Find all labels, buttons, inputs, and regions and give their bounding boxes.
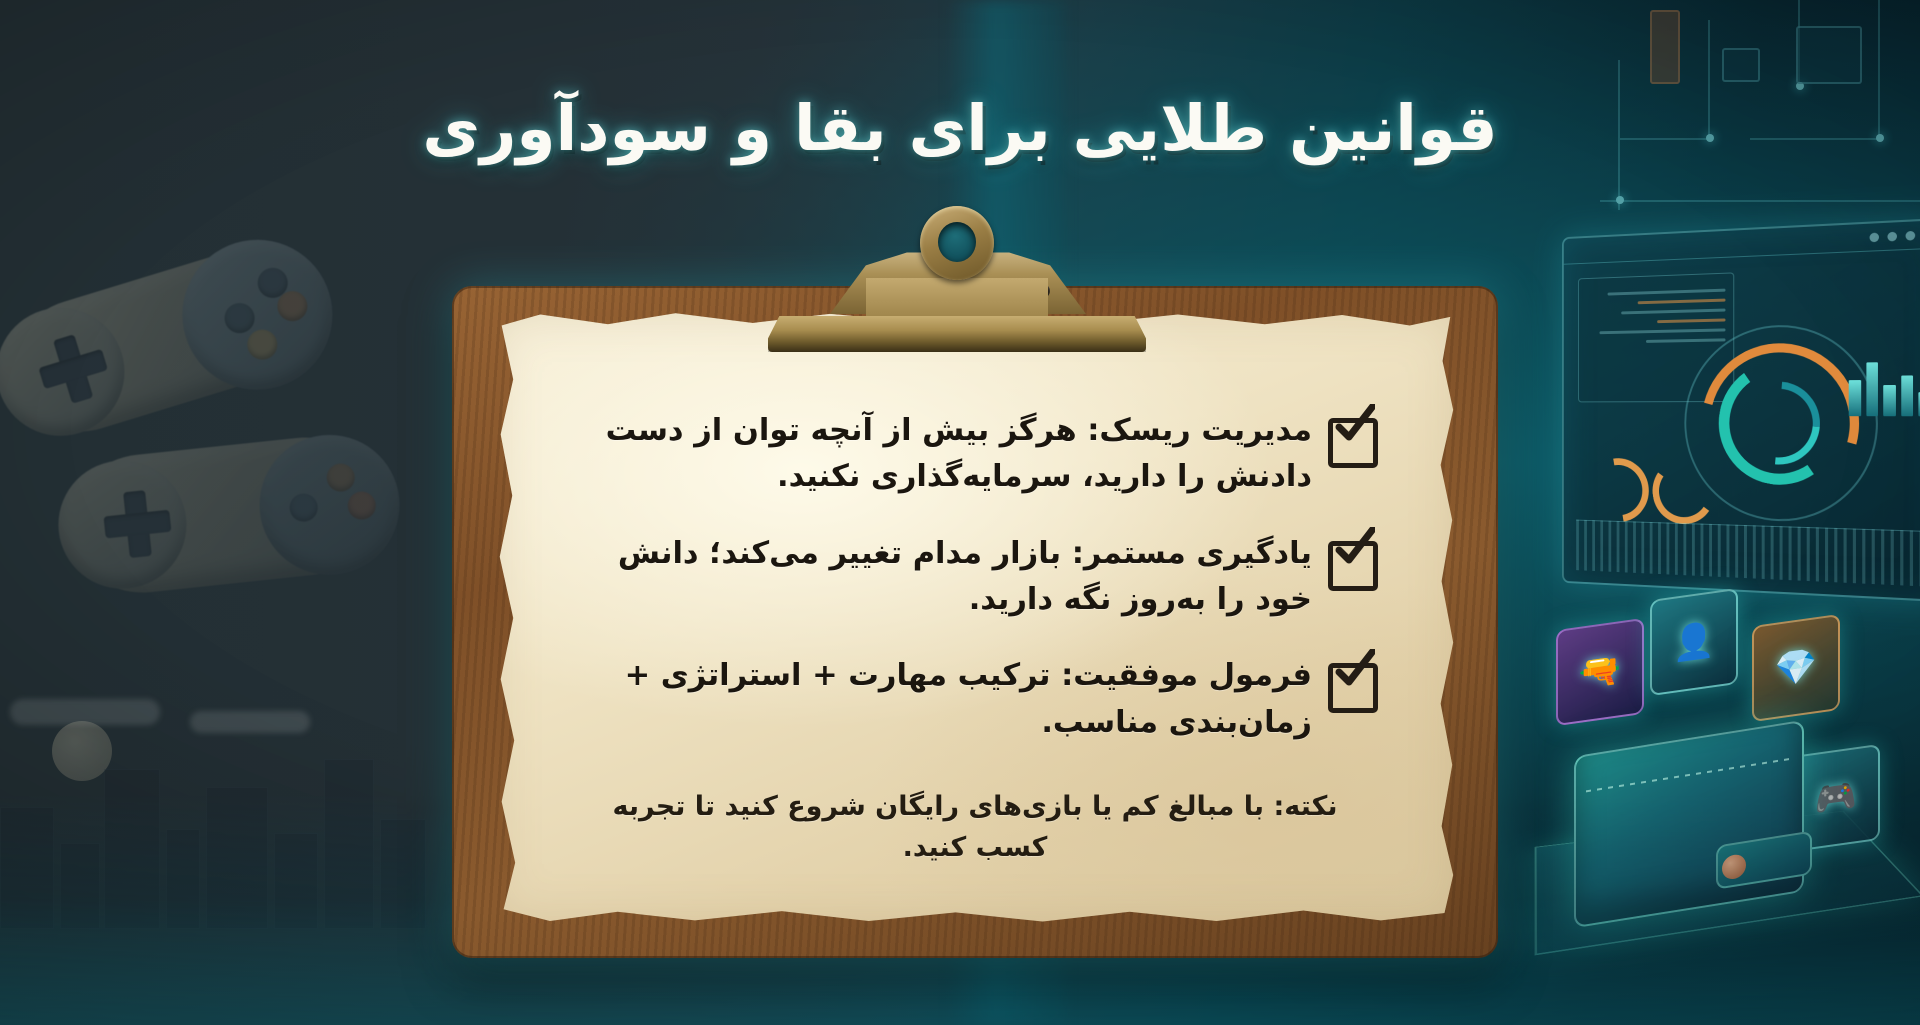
rules-list: مدیریت ریسک: هرگز بیش از آنچه توان از دس… [576,408,1374,776]
page-title: قوانین طلایی برای بقا و سودآوری [422,90,1497,169]
checkbox-checked-icon [1328,414,1374,460]
rule-item: یادگیری مستمر: بازار مدام تغییر می‌کند؛ … [576,531,1374,624]
clipboard-clip-plate [866,278,1048,322]
rule-text: یادگیری مستمر: بازار مدام تغییر می‌کند؛ … [576,531,1312,624]
checkbox-checked-icon [1328,537,1374,583]
clipboard-paper: مدیریت ریسک: هرگز بیش از آنچه توان از دس… [492,312,1458,924]
page-title-wrapper: قوانین طلایی برای بقا و سودآوری [0,48,1920,211]
clipboard-clip-ring [920,206,994,280]
clipboard-clip-bar [768,316,1146,352]
checkbox-checked-icon [1328,659,1374,705]
rule-text: مدیریت ریسک: هرگز بیش از آنچه توان از دس… [576,408,1312,501]
rule-item: فرمول موفقیت: ترکیب مهارت + استراتژی + ز… [576,653,1374,746]
poster-canvas: 🔫 👤 💎 🎮 قوانین طلایی برای بقا و سودآوری [0,0,1920,1025]
note-text: نکته: با مبالغ کم یا بازی‌های رایگان شرو… [576,787,1374,868]
rule-item: مدیریت ریسک: هرگز بیش از آنچه توان از دس… [576,408,1374,501]
rule-text: فرمول موفقیت: ترکیب مهارت + استراتژی + ز… [576,653,1312,746]
